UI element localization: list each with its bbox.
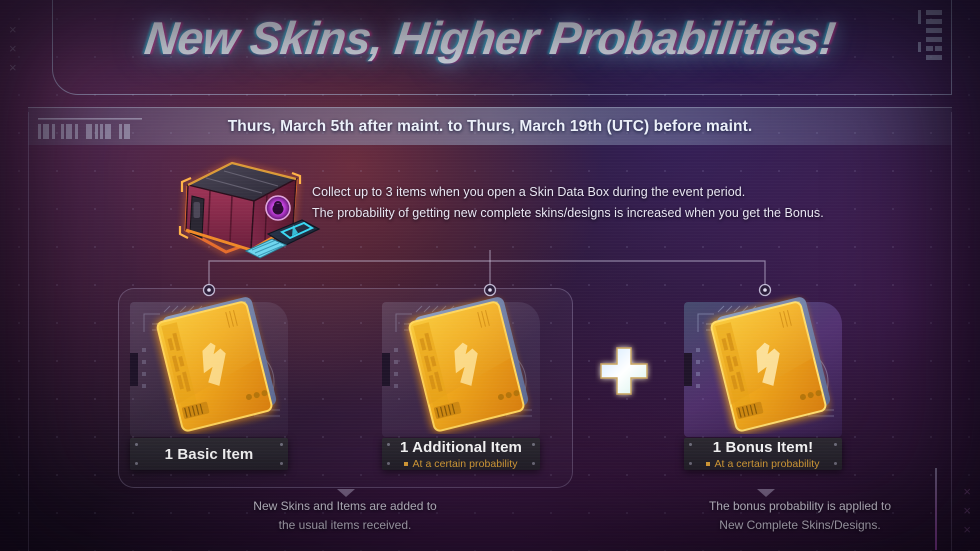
description-line-2: The probability of getting new complete …: [312, 203, 824, 224]
bullet-dot-icon: [706, 462, 710, 466]
corner-x-marks-top-left: ×××: [9, 20, 17, 77]
footnote-right-line-1: The bonus probability is applied to: [640, 497, 960, 516]
item-card-icon-basic: [142, 294, 300, 434]
group-arrow-down-right: [757, 489, 775, 497]
card-slot-basic[interactable]: [130, 302, 288, 437]
barcode-decoration-icon: [38, 118, 158, 140]
item-card-icon-additional: [394, 294, 552, 434]
item-card-icon-bonus: [696, 294, 854, 434]
card-sublabel-bonus: At a certain probability: [706, 458, 819, 470]
slot-notch-additional: [382, 353, 390, 385]
description-block: Collect up to 3 items when you open a Sk…: [312, 182, 824, 224]
page-title: New Skins, Higher Probabilities!: [0, 11, 980, 65]
card-slot-additional[interactable]: [382, 302, 540, 437]
card-label-text-basic: 1 Basic Item: [165, 446, 254, 463]
card-label-bonus: 1 Bonus Item! At a certain probability: [684, 438, 842, 470]
card-label-text-bonus: 1 Bonus Item!: [713, 439, 813, 456]
skin-data-box-icon: [172, 152, 332, 267]
corner-x-marks-bottom-right: ×××: [963, 482, 971, 539]
footnote-left-line-2: the usual items received.: [200, 516, 490, 535]
footnote-right: The bonus probability is applied to New …: [640, 497, 960, 535]
card-label-text-additional: 1 Additional Item: [400, 439, 522, 456]
card-sublabel-additional: At a certain probability: [404, 458, 517, 470]
event-banner-stage: New Skins, Higher Probabilities! ××× ×: [0, 0, 980, 551]
header: New Skins, Higher Probabilities!: [0, 0, 980, 100]
bullet-dot-icon: [404, 462, 408, 466]
footnote-right-line-2: New Complete Skins/Designs.: [640, 516, 960, 535]
footnote-left: New Skins and Items are added to the usu…: [200, 497, 490, 535]
event-period-banner: Thurs, March 5th after maint. to Thurs, …: [28, 107, 952, 145]
card-slot-bonus[interactable]: [684, 302, 842, 437]
slot-notch-basic: [130, 353, 138, 385]
card-label-basic: 1 Basic Item: [130, 438, 288, 470]
description-line-1: Collect up to 3 items when you open a Sk…: [312, 182, 824, 203]
connector-tree: [0, 250, 980, 298]
event-period-text: Thurs, March 5th after maint. to Thurs, …: [228, 118, 753, 136]
slot-notch-bonus: [684, 353, 692, 385]
plus-operator-icon: [595, 342, 653, 400]
group-arrow-down-left: [337, 489, 355, 497]
card-label-additional: 1 Additional Item At a certain probabili…: [382, 438, 540, 470]
footnote-left-line-1: New Skins and Items are added to: [200, 497, 490, 516]
